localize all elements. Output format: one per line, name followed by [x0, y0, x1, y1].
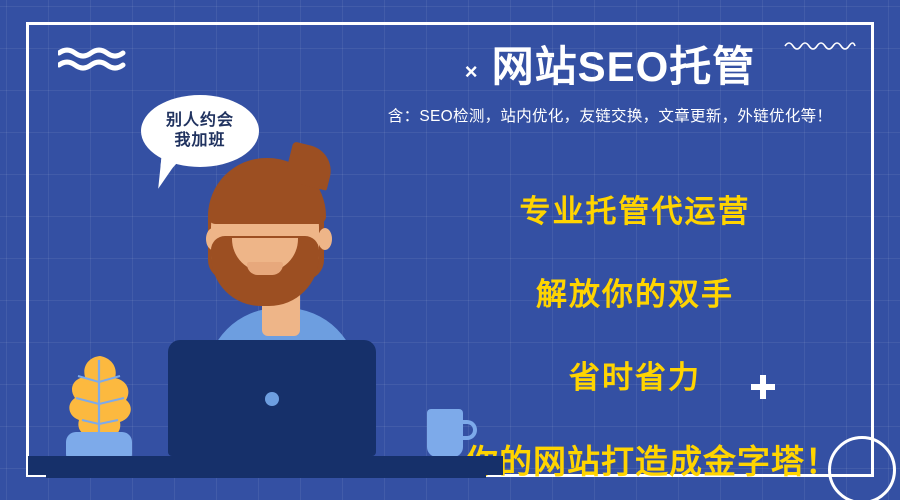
slogan-1: 专业托管代运营: [390, 186, 880, 231]
speech-bubble-line1: 别人约会: [166, 111, 234, 131]
mouth: [247, 262, 283, 275]
speech-bubble-line2: 我加班: [174, 131, 225, 151]
laptop-logo-dot: [265, 392, 279, 406]
slogan-2: 解放你的双手: [390, 269, 880, 314]
title-row: × 网站SEO托管: [330, 44, 890, 90]
close-icon: ×: [465, 61, 478, 83]
page-subtitle: 含：SEO检测，站内优化，友链交换，文章更新，外链优化等！: [330, 104, 890, 126]
wave-thick-icon: [58, 46, 126, 72]
coffee-mug-icon: [427, 409, 463, 457]
page-title: 网站SEO托管: [492, 44, 756, 90]
header: × 网站SEO托管 含：SEO检测，站内优化，友链交换，文章更新，外链优化等！: [330, 44, 890, 126]
slogan-3: 省时省力: [390, 352, 880, 397]
ear-right: [318, 228, 332, 250]
desk: [28, 456, 503, 475]
seo-hosting-banner: × 网站SEO托管 含：SEO检测，站内优化，友链交换，文章更新，外链优化等！ …: [0, 0, 900, 500]
potted-plant-icon: [60, 352, 144, 460]
laptop-icon: [168, 340, 376, 456]
